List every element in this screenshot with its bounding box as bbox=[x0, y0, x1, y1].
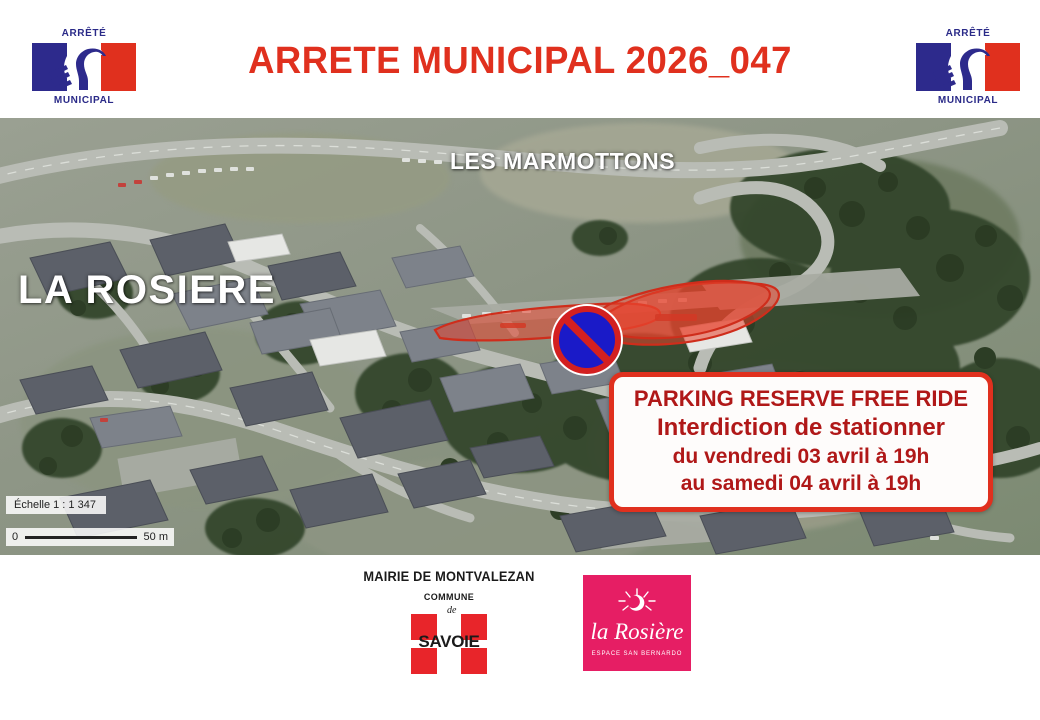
savoie-de-label: de bbox=[447, 605, 456, 616]
arrete-municipal-emblem-right: ARRÊTÉ MUNICIPAL bbox=[908, 28, 1028, 106]
page-title: ARRETE MUNICIPAL 2026_047 bbox=[21, 40, 1019, 83]
map-scale-bar: 0 50 m bbox=[6, 528, 174, 546]
la-rosiere-subtitle: ESPACE SAN BERNARDO bbox=[583, 651, 691, 657]
scale-ruler-line bbox=[25, 536, 136, 539]
la-rosiere-resort-logo: la Rosière ESPACE SAN BERNARDO bbox=[583, 575, 691, 671]
notice-line-2: Interdiction de stationner bbox=[624, 413, 978, 443]
poster-footer: MAIRIE DE MONTVALEZAN COMMUNE de SAVOIE bbox=[0, 555, 1040, 720]
map-scale-label: Échelle 1 : 1 347 bbox=[6, 496, 106, 514]
savoie-cross-square-bottom-left bbox=[411, 648, 437, 674]
emblem-bottom-label: MUNICIPAL bbox=[24, 95, 144, 106]
map-label-parking-area: LES MARMOTTONS bbox=[450, 148, 675, 175]
savoie-commune-label: COMMUNE bbox=[403, 592, 495, 602]
commune-de-savoie-logo: COMMUNE de SAVOIE bbox=[403, 592, 495, 670]
poster-header: ARRÊTÉ MUNICIPAL ARRETE MUNICIPAL 2026_0… bbox=[0, 0, 1040, 118]
notice-line-3: du vendredi 03 avril à 19h bbox=[624, 443, 978, 470]
no-parking-sign bbox=[551, 304, 623, 376]
aerial-map[interactable]: LA ROSIERE LES MARMOTTONS Échelle 1 : 1 … bbox=[0, 118, 1040, 555]
mairie-title: MAIRIE DE MONTVALEZAN bbox=[354, 569, 544, 584]
emblem-bottom-label: MUNICIPAL bbox=[908, 95, 1028, 106]
scale-distance-label: 50 m bbox=[144, 531, 168, 543]
notice-line-1: PARKING RESERVE FREE RIDE bbox=[624, 385, 978, 413]
notice-callout-box: PARKING RESERVE FREE RIDE Interdiction d… bbox=[609, 372, 993, 512]
mairie-logo-block: MAIRIE DE MONTVALEZAN COMMUNE de SAVOIE bbox=[349, 569, 549, 670]
savoie-cross-square-bottom-right bbox=[461, 648, 487, 674]
arrete-municipal-poster: ARRÊTÉ MUNICIPAL ARRETE MUNICIPAL 2026_0… bbox=[0, 0, 1040, 720]
emblem-top-label: ARRÊTÉ bbox=[908, 28, 1028, 39]
scale-zero-label: 0 bbox=[12, 531, 18, 543]
notice-line-4: au samedi 04 avril à 19h bbox=[624, 470, 978, 497]
map-label-town: LA ROSIERE bbox=[18, 268, 276, 313]
french-flag-icon bbox=[916, 43, 1020, 91]
la-rosiere-name: la Rosière bbox=[583, 619, 691, 645]
emblem-top-label: ARRÊTÉ bbox=[24, 28, 144, 39]
sun-crescent-icon bbox=[583, 587, 691, 620]
